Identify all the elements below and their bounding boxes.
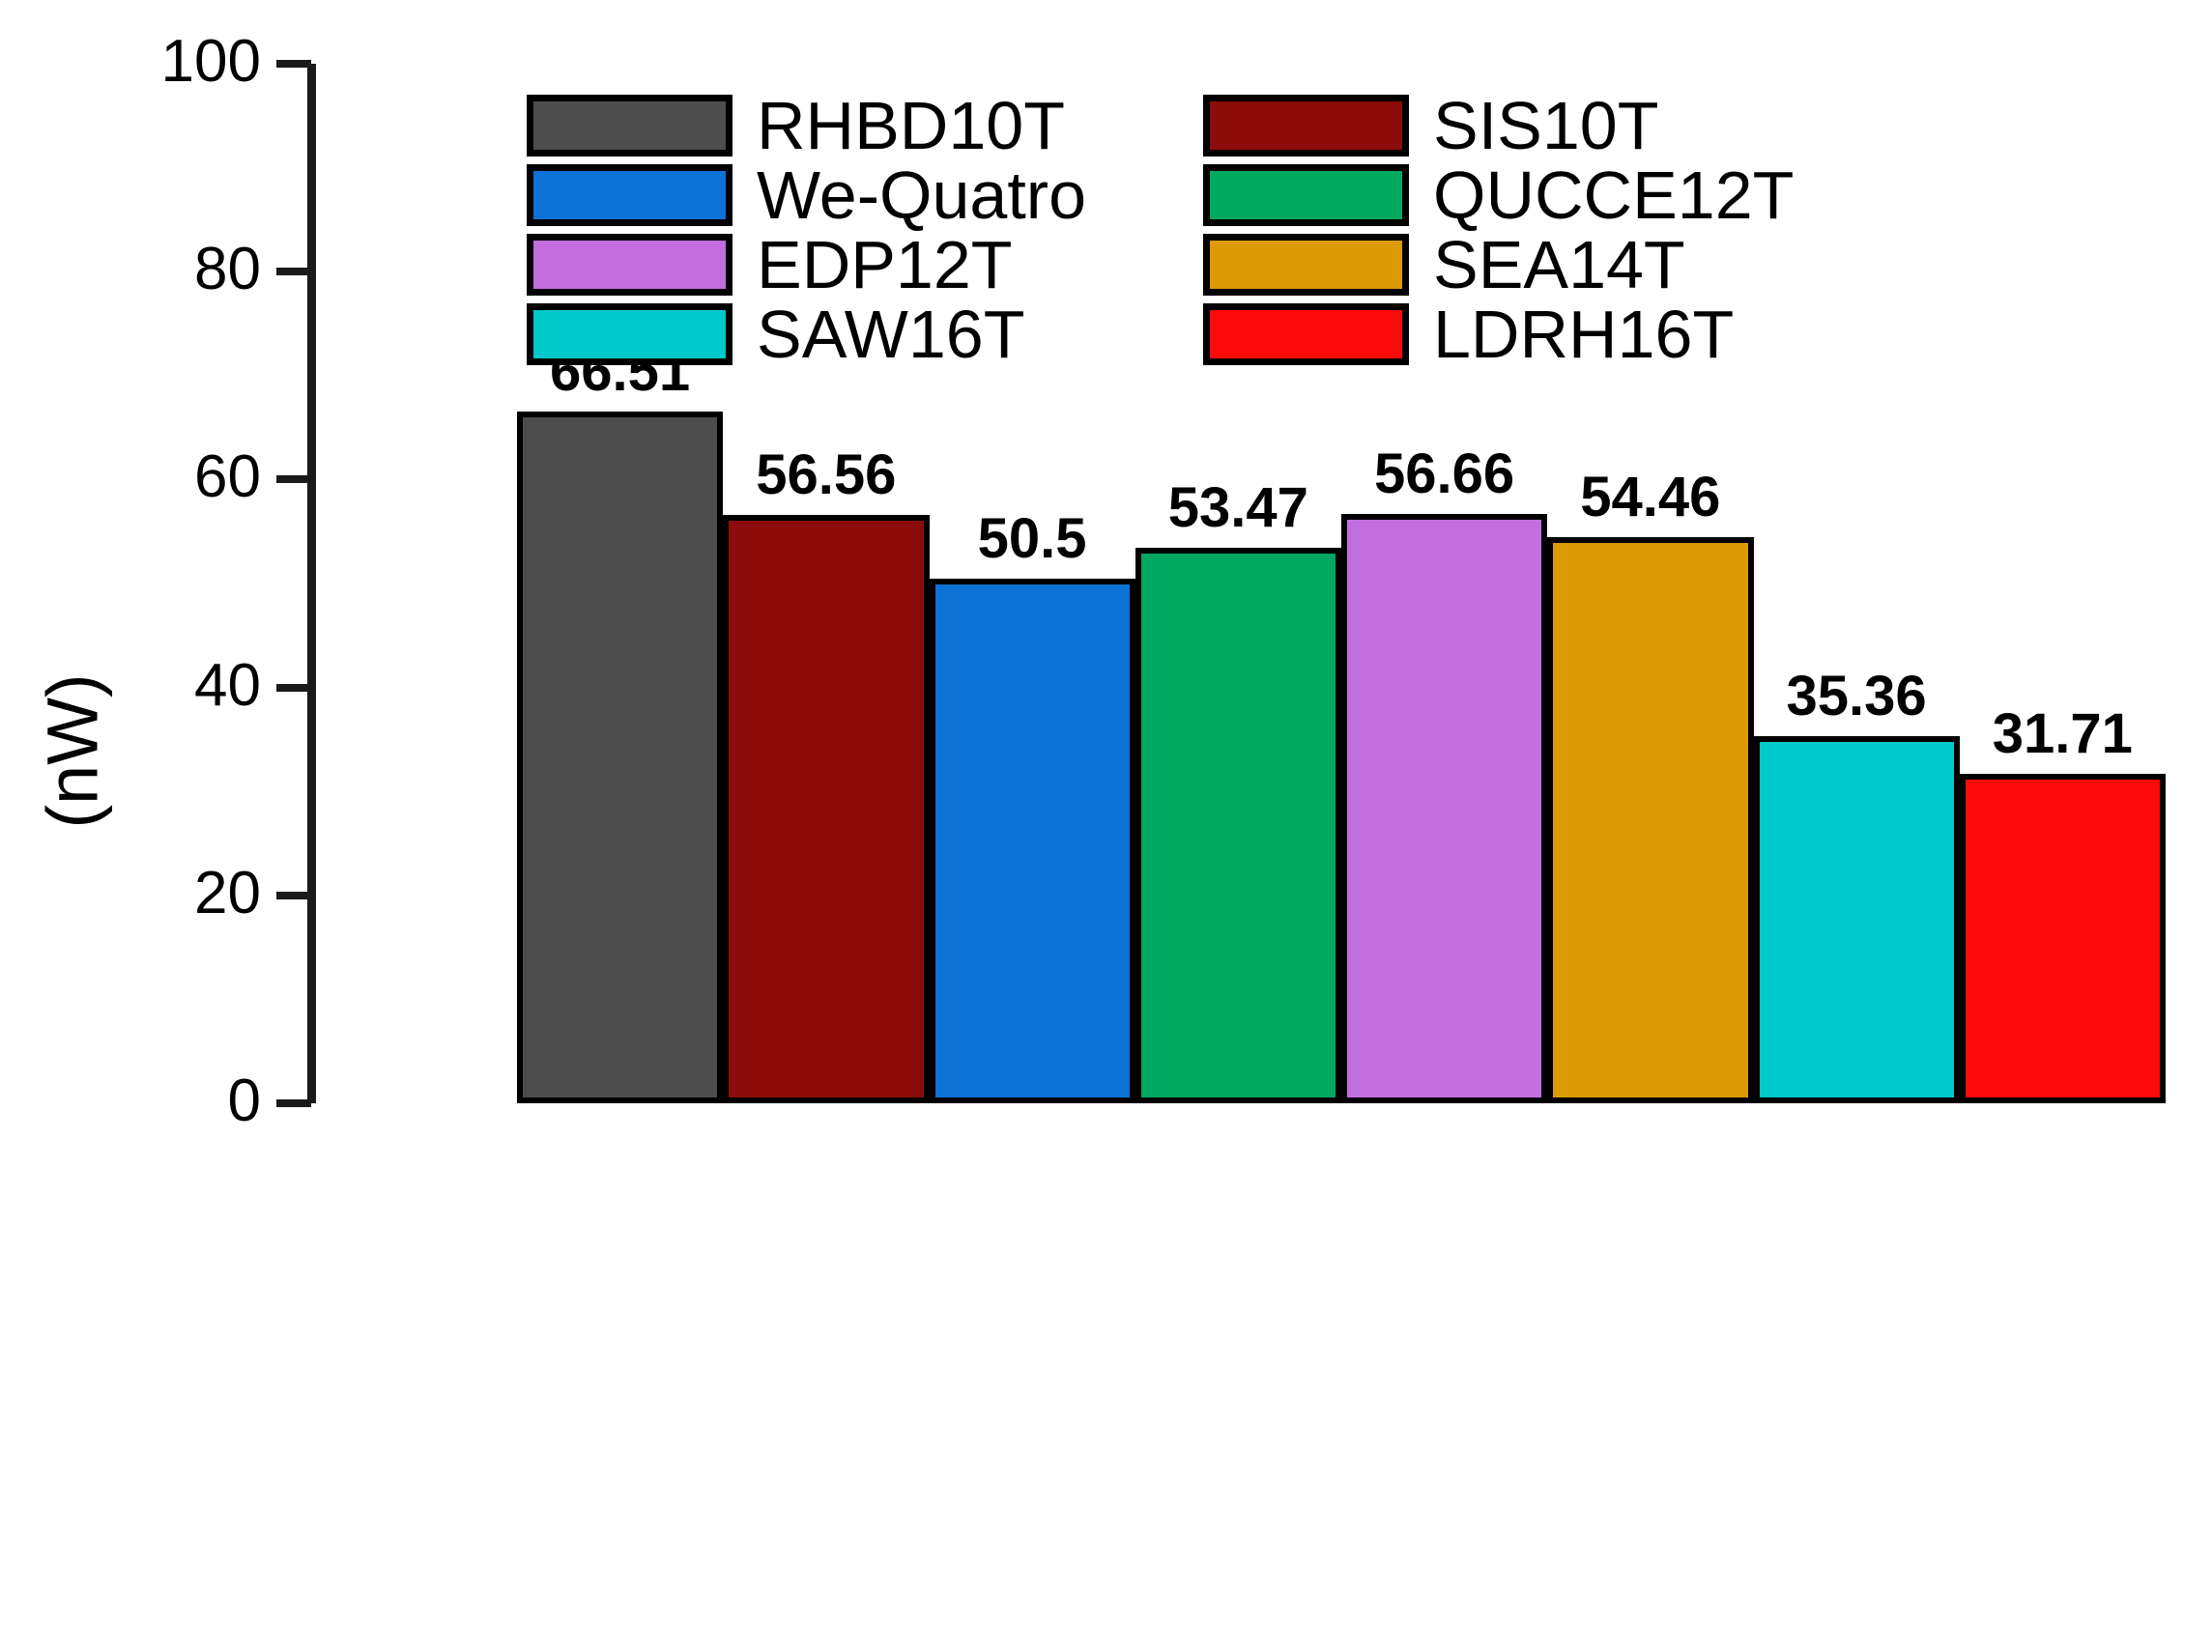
legend-item-label: SAW16T [757,300,1024,368]
bar [930,579,1135,1103]
bar [1547,537,1753,1103]
legend-row: We-QuatroQUCCE12T [527,161,1802,229]
legend-color-swatch [1203,95,1409,157]
legend-item-label: QUCCE12T [1433,161,1794,229]
legend-item[interactable]: SEA14T [1203,231,1685,299]
y-axis-tick-mark [276,1099,311,1107]
y-axis-tick-mark [276,268,311,275]
bar [1960,774,2166,1103]
y-axis-tick-label: 100 [29,32,261,92]
legend-item[interactable]: SIS10T [1203,92,1658,159]
bar [1754,736,1960,1103]
y-axis-tick-label: 0 [29,1071,261,1131]
legend-item-label: RHBD10T [757,92,1065,159]
legend-color-swatch [527,164,733,226]
bar-value-label: 31.71 [1940,706,2185,762]
legend-item[interactable]: EDP12T [527,231,1203,299]
y-axis-tick-mark [276,684,311,692]
y-axis-tick-mark [276,60,311,68]
legend-item[interactable]: QUCCE12T [1203,161,1794,229]
legend-item-label: EDP12T [757,231,1013,299]
bar-chart-figure: (nW) 020406080100 66.5156.5650.553.4756.… [0,0,2212,1652]
legend-item[interactable]: SAW16T [527,300,1203,368]
y-axis-tick-label: 20 [29,864,261,924]
legend-item[interactable]: RHBD10T [527,92,1203,159]
chart-legend: RHBD10TSIS10TWe-QuatroQUCCE12TEDP12TSEA1… [527,92,1802,370]
y-axis-tick-label: 40 [29,656,261,716]
bar [1135,548,1341,1103]
legend-item[interactable]: We-Quatro [527,161,1203,229]
legend-row: RHBD10TSIS10T [527,92,1802,159]
legend-color-swatch [527,234,733,296]
bar-value-label: 56.56 [704,447,948,503]
y-axis-title: (nW) [32,597,114,906]
bar-value-label: 54.46 [1528,470,1772,526]
legend-color-swatch [1203,164,1409,226]
legend-item[interactable]: LDRH16T [1203,300,1734,368]
bar [723,515,929,1103]
legend-row: EDP12TSEA14T [527,231,1802,299]
legend-item-label: SEA14T [1433,231,1685,299]
legend-color-swatch [1203,234,1409,296]
legend-row: SAW16TLDRH16T [527,300,1802,368]
legend-color-swatch [527,303,733,365]
y-axis-tick-label: 80 [29,240,261,299]
legend-item-label: SIS10T [1433,92,1658,159]
legend-item-label: We-Quatro [757,161,1086,229]
y-axis-tick-mark [276,475,311,483]
legend-color-swatch [527,95,733,157]
y-axis-tick-mark [276,892,311,899]
y-axis-line [307,64,316,1103]
bar [1341,514,1547,1103]
legend-color-swatch [1203,303,1409,365]
bar [517,412,723,1103]
legend-item-label: LDRH16T [1433,300,1734,368]
y-axis-tick-label: 60 [29,447,261,507]
